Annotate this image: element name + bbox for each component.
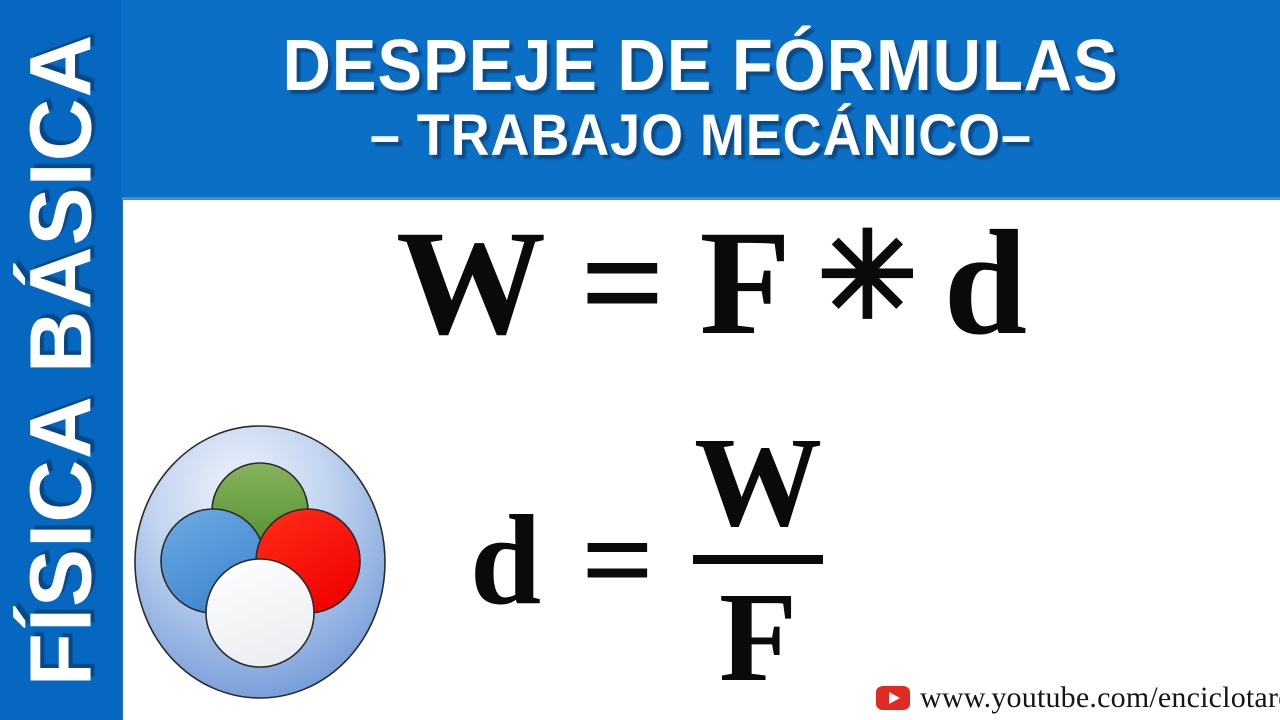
- slide-canvas: FÍSICA BÁSICA DESPEJE DE FÓRMULAS – TRAB…: [0, 0, 1280, 720]
- title-banner: DESPEJE DE FÓRMULAS – TRABAJO MECÁNICO–: [122, 0, 1280, 200]
- youtube-channel-url[interactable]: www.youtube.com/enciclotareas: [920, 681, 1280, 715]
- page-title: DESPEJE DE FÓRMULAS: [283, 30, 1119, 103]
- page-subtitle: – TRABAJO MECÁNICO–: [370, 106, 1032, 167]
- play-triangle-icon: [889, 692, 900, 704]
- sidebar-brand-label: FÍSICA BÁSICA: [17, 34, 104, 687]
- multiplication-asterisk-icon: ✳: [817, 217, 918, 337]
- physics-circles-logo: [133, 423, 387, 701]
- formula-work-definition: W = F ✳ d: [396, 208, 1096, 358]
- formula-solved-equals-sign: =: [581, 496, 654, 624]
- youtube-play-icon[interactable]: [876, 686, 910, 710]
- fraction-bar: [693, 555, 823, 564]
- formula-distance-solved: d = W F: [470, 415, 828, 705]
- formula-main-distance-var: d: [944, 208, 1027, 358]
- formula-main-left-var: W: [396, 208, 546, 358]
- logo-circle-white: [206, 559, 314, 667]
- formula-solved-left-var: d: [470, 496, 541, 624]
- fraction-numerator: W: [688, 415, 828, 549]
- formula-main-equals-sign: =: [580, 208, 665, 358]
- formula-main-force-var: F: [699, 208, 791, 358]
- fraction-denominator: F: [713, 570, 803, 704]
- sidebar-brand-bar: FÍSICA BÁSICA: [0, 0, 123, 720]
- fraction-work-over-force: W F: [688, 415, 828, 705]
- youtube-watermark[interactable]: www.youtube.com/enciclotareas: [876, 681, 1280, 715]
